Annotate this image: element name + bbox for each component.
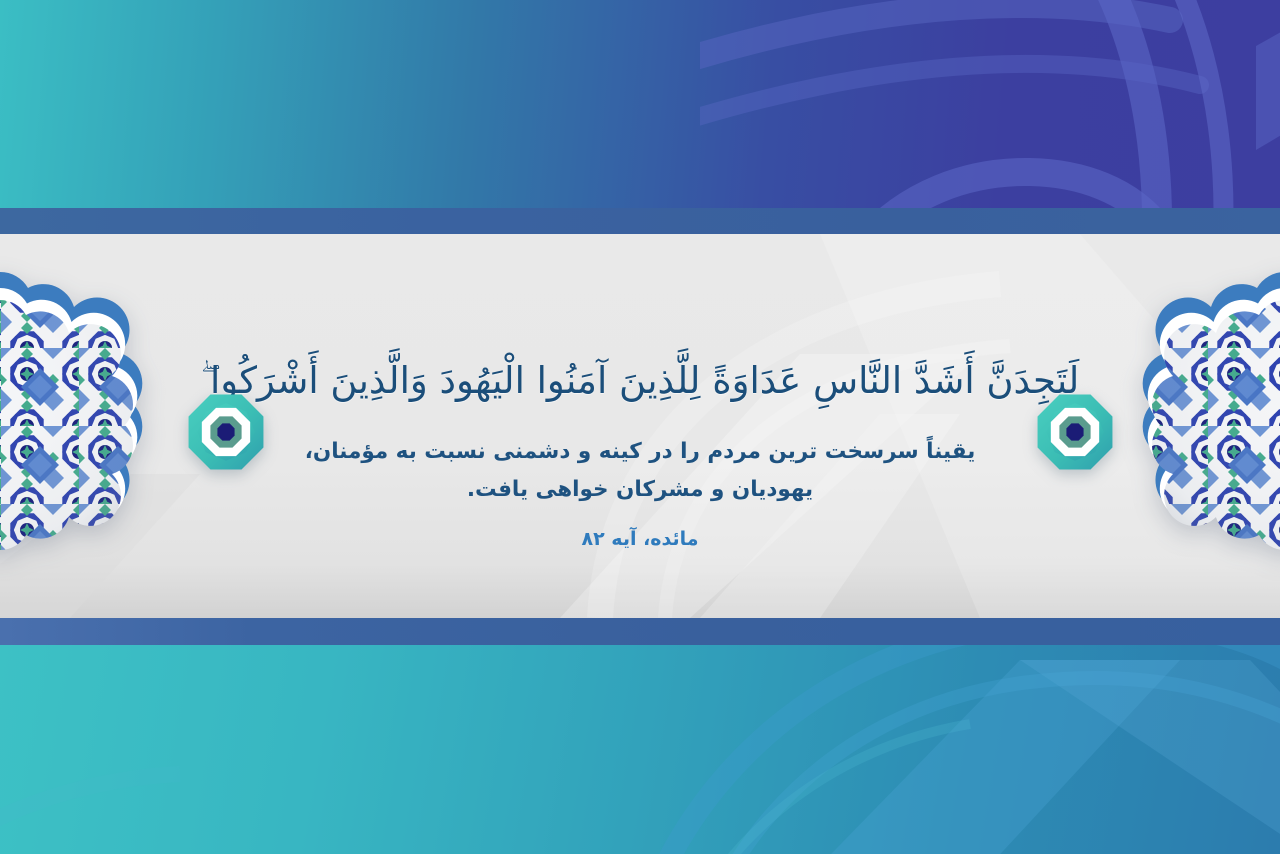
verse-translation: یقیناً سرسخت ترین مردم را در کینه و دشمن… (305, 433, 976, 508)
background-bottom-gradient (0, 644, 1280, 854)
band-rule-bottom (0, 618, 1280, 645)
band-face: لَتَجِدَنَّ أَشَدَّ النَّاسِ عَدَاوَةً ل… (0, 234, 1280, 618)
band-rule-top (0, 208, 1280, 234)
verse-translation-line-2: یهودیان و مشرکان خواهی یافت. (305, 471, 976, 509)
verse-source-citation: مائده، آیه ۸۲ (581, 528, 698, 550)
banner-stage: لَتَجِدَنَّ أَشَدَّ النَّاسِ عَدَاوَةً ل… (0, 0, 1280, 854)
verse-arabic-text: لَتَجِدَنَّ أَشَدَّ النَّاسِ عَدَاوَةً ل… (201, 354, 1080, 408)
verse-band: لَتَجِدَنَّ أَشَدَّ النَّاسِ عَدَاوَةً ل… (0, 208, 1280, 645)
verse-translation-line-1: یقیناً سرسخت ترین مردم را در کینه و دشمن… (305, 433, 976, 471)
verse-content: لَتَجِدَنَّ أَشَدَّ النَّاسِ عَدَاوَةً ل… (0, 260, 1280, 618)
background-top-gradient (0, 0, 1280, 232)
